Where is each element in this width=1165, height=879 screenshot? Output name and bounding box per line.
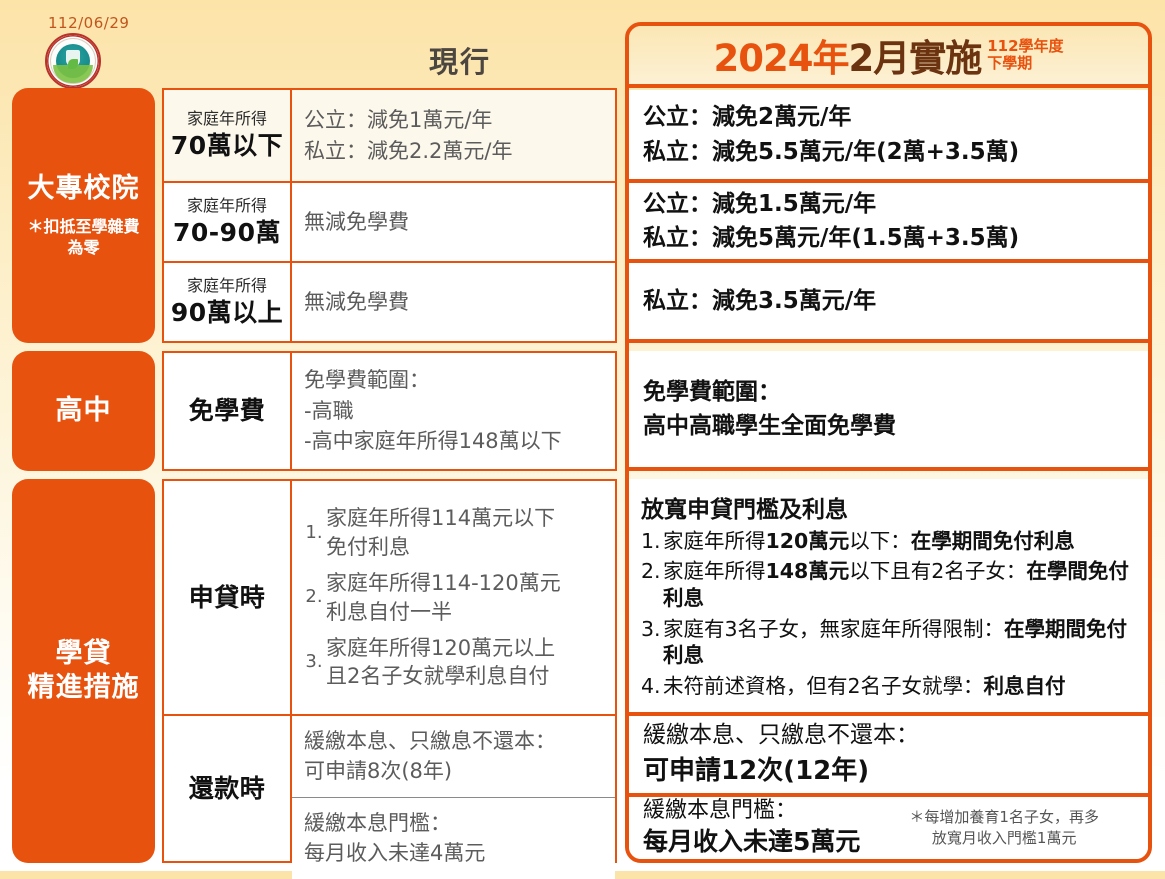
value-line: 免學費範圍： bbox=[304, 365, 603, 395]
header-new-month: 2月實施 bbox=[848, 37, 981, 80]
row-label-college-3: 家庭年所得 90萬以上 bbox=[164, 263, 292, 341]
table-row: 免學費 免學費範圍： -高職 -高中家庭年所得148萬以下 bbox=[162, 351, 617, 471]
row-label-big: 免學費 bbox=[189, 395, 266, 426]
spacer-college-highschool bbox=[629, 343, 1148, 351]
value-line: 緩繳本息門檻： bbox=[304, 808, 603, 838]
list-item-text: 家庭年所得114萬元以下 免付利息 bbox=[326, 504, 607, 561]
current-policy-table: 家庭年所得 70萬以下 公立：減免1萬元/年 私立：減免2.2萬元/年 家庭年所… bbox=[162, 88, 617, 343]
category-college-note: ＊扣抵至學雜費 為零 bbox=[27, 216, 139, 259]
row-current-loan-apply: 1. 家庭年所得114萬元以下 免付利息 2. 家庭年所得114-120萬元 利… bbox=[292, 481, 615, 714]
new-policy-loan-apply: 放寬申貸門檻及利息 1. 家庭年所得120萬元以下：在學期間免付利息 2. 家庭… bbox=[629, 479, 1148, 716]
value-line: 私立：減免5萬元/年(1.5萬+3.5萬) bbox=[643, 221, 1134, 256]
value-line: 無減免學費 bbox=[304, 207, 603, 237]
new-policy-college-2: 公立：減免1.5萬元/年 私立：減免5萬元/年(1.5萬+3.5萬) bbox=[629, 183, 1148, 263]
row-label-big: 70-90萬 bbox=[173, 217, 281, 248]
header-new-title: 2024年2月實施 bbox=[713, 28, 981, 82]
header-current: 現行 bbox=[300, 36, 620, 84]
value-line: 免學費範圍： bbox=[643, 375, 1134, 410]
list-item-number: 3. bbox=[641, 616, 663, 669]
list-item: 4. 未符前述資格，但有2名子女就學：利息自付 bbox=[641, 673, 1136, 700]
list-item-number: 1. bbox=[302, 520, 326, 546]
value-line: 公立：減免1.5萬元/年 bbox=[643, 187, 1134, 222]
list-item-text: 家庭年所得114-120萬元 利息自付一半 bbox=[326, 569, 607, 626]
list-item-text: 家庭年所得120萬元以上 且2名子女就學利息自付 bbox=[326, 634, 607, 691]
new-policy-highschool: 免學費範圍： 高中高職學生全面免學費 bbox=[629, 351, 1148, 471]
header-new-year: 2024年 bbox=[713, 37, 848, 80]
row-current-highschool: 免學費範圍： -高職 -高中家庭年所得148萬以下 bbox=[292, 353, 615, 469]
row-label-college-1: 家庭年所得 70萬以下 bbox=[164, 90, 292, 181]
category-college-title: 大專校院 bbox=[28, 172, 140, 206]
header-new-sub-line2: 下學期 bbox=[987, 55, 1063, 72]
infographic-root: 112/06/29 現行 2024年2月實施 112學年度 下學期 大專校院 ＊… bbox=[0, 0, 1165, 871]
list-item: 1. 家庭年所得114萬元以下 免付利息 bbox=[302, 504, 607, 561]
value-line: 可申請8次(8年) bbox=[304, 756, 603, 786]
value-line: 公立：減免2萬元/年 bbox=[643, 100, 1134, 135]
list-item-number: 1. bbox=[641, 528, 663, 555]
value-line: 緩繳本息門檻： bbox=[643, 797, 860, 826]
row-label-college-2: 家庭年所得 70-90萬 bbox=[164, 183, 292, 261]
list-item: 1. 家庭年所得120萬元以下：在學期間免付利息 bbox=[641, 528, 1136, 555]
value-line: 私立：減免2.2萬元/年 bbox=[304, 136, 603, 166]
new-policy-college-1: 公立：減免2萬元/年 私立：減免5.5萬元/年(2萬+3.5萬) bbox=[629, 90, 1148, 183]
current-policy-table-loan: 申貸時 1. 家庭年所得114萬元以下 免付利息 2. 家庭年所得114-120… bbox=[162, 479, 617, 863]
list-item-text: 未符前述資格，但有2名子女就學：利息自付 bbox=[663, 673, 1136, 700]
loan-apply-heading: 放寬申貸門檻及利息 bbox=[641, 490, 1136, 524]
row-current-loan-repay: 緩繳本息、只繳息不還本： 可申請8次(8年) 緩繳本息門檻： 每月收入未達4萬元 bbox=[292, 716, 615, 861]
value-line: 每月收入未達4萬元 bbox=[304, 838, 603, 868]
ministry-of-education-seal-icon bbox=[45, 33, 101, 89]
row-label-big: 申貸時 bbox=[189, 582, 266, 613]
row-label-small: 家庭年所得 bbox=[187, 109, 267, 130]
table-row: 家庭年所得 70-90萬 無減免學費 bbox=[162, 183, 617, 263]
row-label-loan-apply: 申貸時 bbox=[164, 481, 292, 714]
row-label-big: 90萬以上 bbox=[171, 297, 283, 328]
value-line: -高中家庭年所得148萬以下 bbox=[304, 426, 603, 456]
repay-threshold-note: ＊每增加養育1名子女，再多 放寬月收入門檻1萬元 bbox=[860, 807, 1134, 849]
row-current-college-1: 公立：減免1萬元/年 私立：減免2.2萬元/年 bbox=[292, 90, 615, 181]
new-policy-repay-a: 緩繳本息、只繳息不還本： 可申請12次(12年) bbox=[629, 716, 1148, 797]
list-item: 3. 家庭年所得120萬元以上 且2名子女就學利息自付 bbox=[302, 634, 607, 691]
row-label-loan-repay: 還款時 bbox=[164, 716, 292, 861]
value-line: 每月收入未達5萬元 bbox=[643, 826, 860, 859]
current-policy-table-highschool: 免學費 免學費範圍： -高職 -高中家庭年所得148萬以下 bbox=[162, 351, 617, 471]
row-label-small: 家庭年所得 bbox=[187, 276, 267, 297]
value-line: 緩繳本息、只繳息不還本： bbox=[643, 718, 1134, 753]
list-item-number: 3. bbox=[302, 649, 326, 675]
list-item-number: 4. bbox=[641, 673, 663, 700]
list-item: 3. 家庭有3名子女，無家庭年所得限制：在學期間免付利息 bbox=[641, 616, 1136, 669]
value-line: 私立：減免3.5萬元/年 bbox=[643, 284, 1134, 319]
new-policy-college-3: 私立：減免3.5萬元/年 bbox=[629, 263, 1148, 343]
value-line: 公立：減免1萬元/年 bbox=[304, 105, 603, 135]
row-current-college-2: 無減免學費 bbox=[292, 183, 615, 261]
publish-date: 112/06/29 bbox=[48, 14, 129, 32]
header-new-policy: 2024年2月實施 112學年度 下學期 bbox=[629, 26, 1148, 88]
table-row: 還款時 緩繳本息、只繳息不還本： 可申請8次(8年) 緩繳本息門檻： 每月收入未… bbox=[162, 716, 617, 863]
value-line: 可申請12次(12年) bbox=[643, 752, 1134, 791]
repay-current-a: 緩繳本息、只繳息不還本： 可申請8次(8年) bbox=[292, 716, 615, 798]
value-line: 高中高職學生全面免學費 bbox=[643, 409, 1134, 444]
row-label-highschool: 免學費 bbox=[164, 353, 292, 469]
list-item-text: 家庭有3名子女，無家庭年所得限制：在學期間免付利息 bbox=[663, 616, 1136, 669]
list-item-number: 2. bbox=[641, 558, 663, 611]
new-policy-repay-b: 緩繳本息門檻： 每月收入未達5萬元 ＊每增加養育1名子女，再多 放寬月收入門檻1… bbox=[629, 797, 1148, 859]
value-line: 無減免學費 bbox=[304, 287, 603, 317]
seal-outline bbox=[47, 35, 99, 87]
list-item-text: 家庭年所得120萬元以下：在學期間免付利息 bbox=[663, 528, 1136, 555]
category-highschool-title: 高中 bbox=[56, 394, 112, 428]
header-new-sub-line1: 112學年度 bbox=[987, 38, 1063, 55]
category-loan: 學貸 精進措施 bbox=[12, 479, 155, 863]
row-label-big: 還款時 bbox=[189, 773, 266, 804]
header-new-subtitle: 112學年度 下學期 bbox=[987, 38, 1063, 73]
table-row: 家庭年所得 70萬以下 公立：減免1萬元/年 私立：減免2.2萬元/年 bbox=[162, 88, 617, 183]
repay-current-b: 緩繳本息門檻： 每月收入未達4萬元 bbox=[292, 798, 615, 879]
row-current-college-3: 無減免學費 bbox=[292, 263, 615, 341]
list-item-number: 2. bbox=[302, 584, 326, 610]
category-college: 大專校院 ＊扣抵至學雜費 為零 bbox=[12, 88, 155, 343]
table-row: 申貸時 1. 家庭年所得114萬元以下 免付利息 2. 家庭年所得114-120… bbox=[162, 479, 617, 716]
list-item-text: 家庭年所得148萬元以下且有2名子女：在學間免付利息 bbox=[663, 558, 1136, 611]
spacer-highschool-loan bbox=[629, 471, 1148, 479]
category-loan-title: 學貸 精進措施 bbox=[28, 637, 140, 705]
list-item: 2. 家庭年所得114-120萬元 利息自付一半 bbox=[302, 569, 607, 626]
category-highschool: 高中 bbox=[12, 351, 155, 471]
table-row: 家庭年所得 90萬以上 無減免學費 bbox=[162, 263, 617, 343]
row-label-big: 70萬以下 bbox=[171, 130, 283, 161]
repay-threshold-block: 緩繳本息門檻： 每月收入未達5萬元 bbox=[643, 797, 860, 858]
value-line: -高職 bbox=[304, 396, 603, 426]
value-line: 私立：減免5.5萬元/年(2萬+3.5萬) bbox=[643, 135, 1134, 170]
row-label-small: 家庭年所得 bbox=[187, 196, 267, 217]
list-item: 2. 家庭年所得148萬元以下且有2名子女：在學間免付利息 bbox=[641, 558, 1136, 611]
value-line: 緩繳本息、只繳息不還本： bbox=[304, 726, 603, 756]
